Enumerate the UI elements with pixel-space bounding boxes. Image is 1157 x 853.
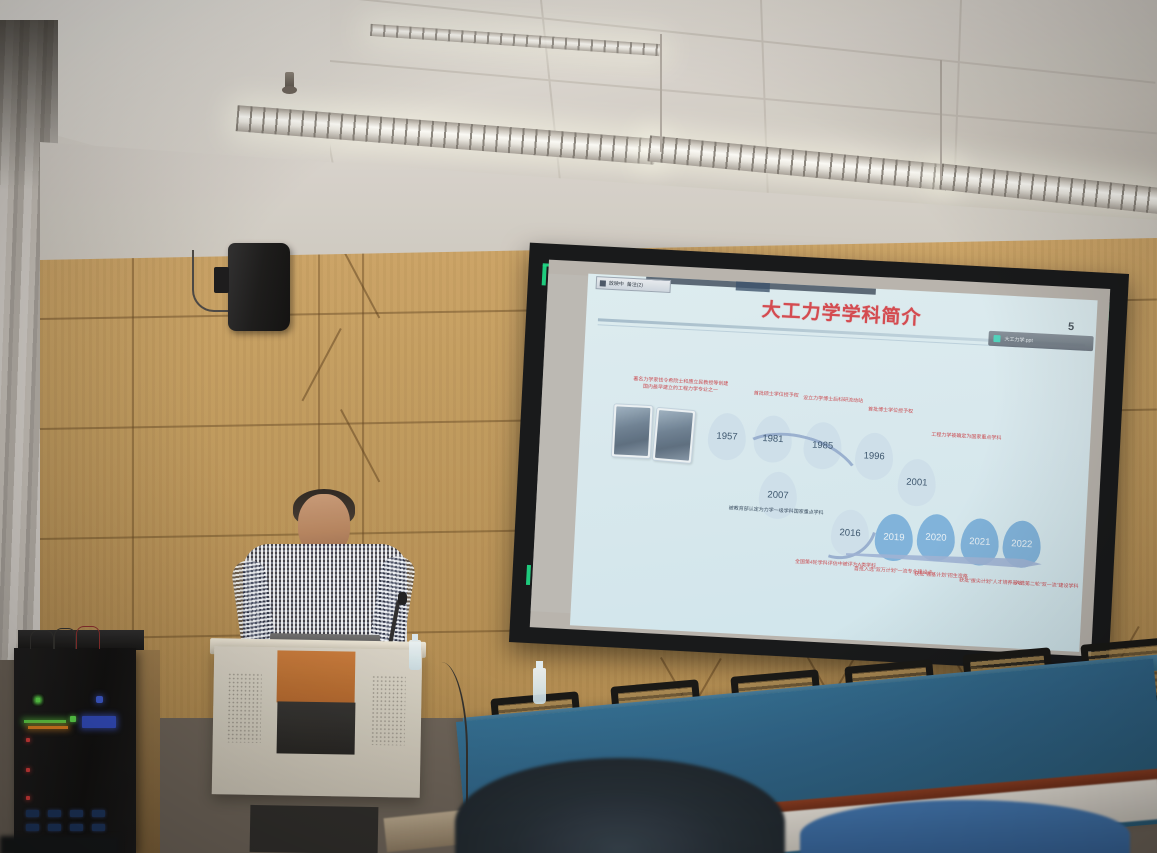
rack-cable-1 (30, 630, 54, 649)
portrait-qian-lingxi (611, 403, 654, 459)
rack-led-red-3 (26, 796, 30, 800)
pin-year: 2016 (839, 527, 861, 539)
caption-1996: 首批博士学位授予权 (853, 406, 927, 417)
powerpoint-slide: 放映中 备注(2) 大工力学学科简介 5 大工力学.ppt 著名力学家钱令希院士… (570, 274, 1098, 652)
rack-lcd-display (82, 716, 116, 728)
rack-button[interactable] (48, 810, 61, 817)
rack-meter-green (24, 720, 66, 723)
pin-year: 1985 (812, 440, 834, 452)
timeline-pin-2001: 2001 (897, 458, 937, 507)
caption-1985: 设立力学博士后科研流动站 (800, 395, 866, 405)
caption-2001: 工程力学被确定为国家重点学科 (930, 432, 1002, 443)
rack-button[interactable] (26, 810, 39, 817)
water-bottle-on-podium (409, 640, 421, 670)
rack-led-red-2 (26, 768, 30, 772)
caption-2022: 入选第二轮"双一流"建设学科 (1009, 580, 1085, 591)
timeline-pin-2020: 2020 (916, 513, 956, 562)
rack-cable-2 (54, 628, 76, 649)
foreground-dark-edge (0, 836, 120, 853)
screen-surface: 放映中 备注(2) 大工力学学科简介 5 大工力学.ppt 著名力学家钱令希院士… (530, 260, 1110, 657)
projection-screen: 放映中 备注(2) 大工力学学科简介 5 大工力学.ppt 著名力学家钱令希院士… (509, 243, 1129, 674)
rack-button[interactable] (70, 810, 83, 817)
microphone-head (398, 592, 407, 605)
caption-1981: 首批硕士学位授予权 (745, 390, 807, 400)
rack-button[interactable] (26, 824, 39, 831)
rack-led-red-1 (26, 738, 30, 742)
pin-year: 2022 (1011, 538, 1033, 550)
portrait-tang-limin (652, 407, 697, 464)
pin-year: 1981 (762, 433, 784, 445)
caption-text: 首批硕士学位授予权 (754, 391, 799, 399)
podium-control-panel[interactable] (277, 701, 356, 754)
toast-filename: 大工力学.ppt (1004, 336, 1033, 344)
caption-text: 工程力学被确定为国家重点学科 (931, 432, 1001, 442)
pin-year: 1996 (863, 450, 885, 462)
slide-page-number: 5 (1068, 321, 1075, 333)
presentation-top-strip-2 (736, 281, 770, 292)
av-equipment-rack (14, 648, 136, 853)
pin-year: 1957 (716, 431, 738, 443)
grid-icon (600, 280, 606, 286)
rack-button[interactable] (92, 824, 105, 831)
rack-button[interactable] (92, 810, 105, 817)
rack-button[interactable] (70, 824, 83, 831)
caption-text: 入选第二轮"双一流"建设学科 (1015, 580, 1079, 589)
rack-cable-3 (76, 626, 100, 649)
lecture-hall-photo: 放映中 备注(2) 大工力学学科简介 5 大工力学.ppt 著名力学家钱令希院士… (0, 0, 1157, 853)
pin-year: 2007 (767, 489, 789, 501)
rack-meter-orange (28, 726, 68, 729)
pin-year: 2020 (925, 532, 947, 544)
fire-sprinkler (285, 72, 294, 92)
rack-led-green (70, 716, 76, 722)
wall-speaker (228, 243, 290, 331)
rack-button[interactable] (48, 824, 61, 831)
rack-led-blue (96, 696, 103, 703)
caption-text: 设立力学博士后科研流动站 (803, 395, 863, 404)
podium-base-panel (250, 805, 379, 853)
podium-wood-accent (277, 650, 356, 703)
light-hanger-2 (940, 60, 942, 180)
download-icon (993, 335, 1000, 342)
pin-year: 2001 (906, 477, 928, 489)
pin-year: 2019 (883, 531, 905, 543)
light-hanger-1 (660, 34, 662, 152)
podium-speaker-grill-right (371, 675, 406, 746)
pin-year: 2021 (969, 536, 991, 548)
caption-founders: 著名力学家钱令希院士和唐立民教授等创建 国内最早建立的工程力学专业之一 (600, 374, 760, 396)
timeline-pin-1996: 1996 (854, 432, 894, 481)
water-bottle-on-table (533, 668, 546, 704)
podium-speaker-grill-left (227, 672, 262, 743)
caption-text: 首批博士学位授予权 (868, 407, 913, 415)
